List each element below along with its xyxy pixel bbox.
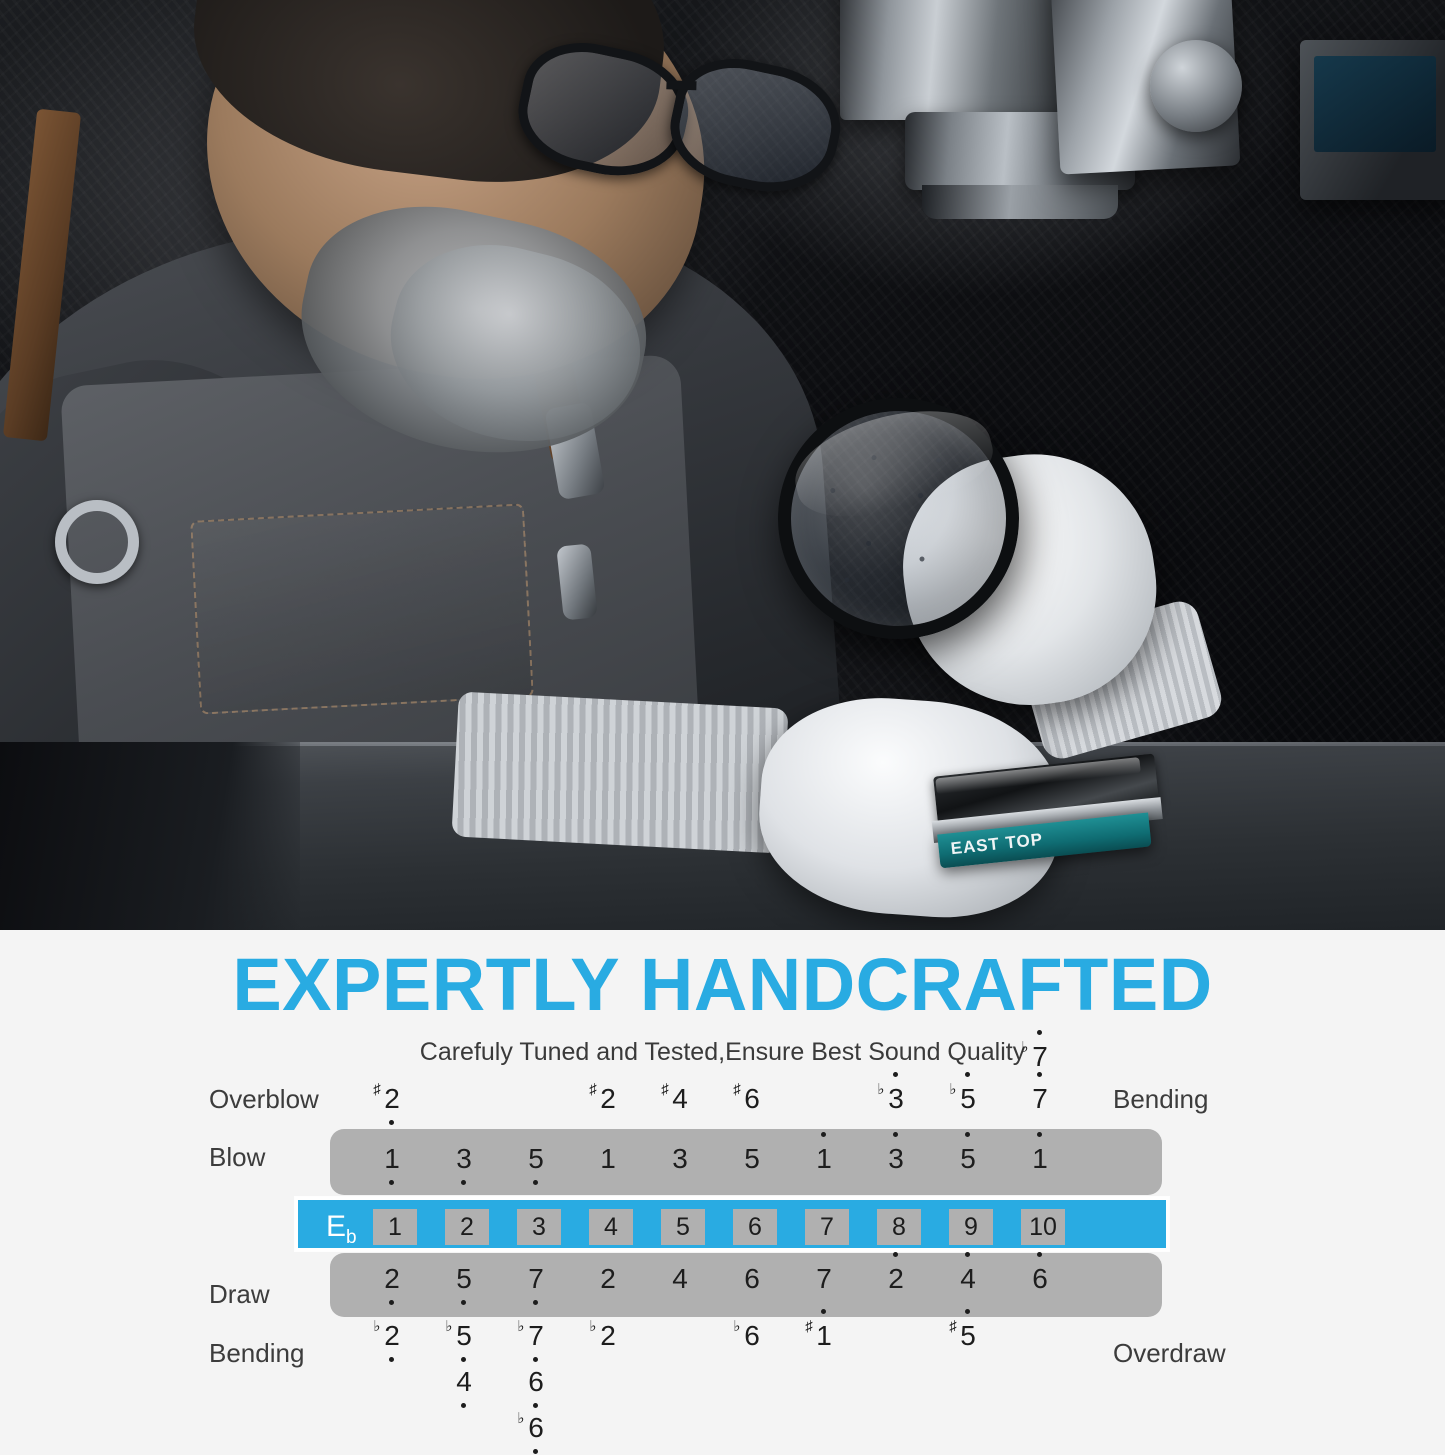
row-label-bending-left: Bending [209,1338,304,1369]
note-glyph: 6♭ [528,1413,544,1443]
hole-box-2[interactable]: 2 [445,1209,489,1245]
key-signature-label: Eb [326,1210,357,1249]
note-glyph: 6 [744,1264,760,1294]
sharp-icon: ♯ [373,1082,381,1097]
hole-number-bar: Eb 12345678910 [295,1197,1169,1251]
blow-hole-8: 3 [865,1144,927,1174]
note-glyph: 7 [816,1264,832,1294]
note-glyph: 4♯ [672,1084,688,1114]
blow-hole-7: 1 [793,1144,855,1174]
note-glyph: 2♯ [384,1084,400,1114]
blow-hole-2: 3 [433,1144,495,1174]
overblow-upper-hole-10: 7♭ [1009,1042,1071,1072]
hero-photo: EAST TOP [0,0,1445,930]
blow-hole-6: 5 [721,1144,783,1174]
note-glyph: 4 [672,1264,688,1294]
page-subtitle: Carefuly Tuned and Tested,Ensure Best So… [0,1038,1445,1067]
octave-dot-down [533,1403,538,1408]
draw-hole-7: 7 [793,1264,855,1294]
desk-shadow [0,742,300,930]
microscope-focus-knob [1150,40,1242,132]
draw-hole-4: 2 [577,1264,639,1294]
hole-box-1[interactable]: 1 [373,1209,417,1245]
blow-hole-9: 5 [937,1144,999,1174]
microscope-column [840,0,1065,120]
sharp-icon: ♯ [949,1319,957,1334]
bending1-hole-7: 1♯ [793,1321,855,1351]
octave-dot-down [461,1357,466,1362]
draw-hole-10: 6 [1009,1264,1071,1294]
note-glyph: 6 [528,1367,544,1397]
draw-hole-1: 2 [361,1264,423,1294]
chart-grid: Eb 12345678910 7♭ 2♯2♯4♯6♯3♭5♭7 13513513… [330,1070,1162,1440]
bending1-hole-9: 5♯ [937,1321,999,1351]
draw-hole-3: 7 [505,1264,567,1294]
note-glyph: 5 [456,1264,472,1294]
flat-icon: ♭ [1021,1040,1028,1055]
info-panel: EXPERTLY HANDCRAFTED Carefuly Tuned and … [0,930,1445,1445]
note-glyph: 5♭ [456,1321,472,1351]
row-label-blow: Blow [209,1142,265,1173]
note-glyph: 1 [384,1144,400,1174]
flat-icon: ♭ [733,1319,740,1334]
octave-dot-down [389,1357,394,1362]
overblow-hole-8: 3♭ [865,1084,927,1114]
bending2-hole-2: 4 [433,1367,495,1397]
blow-hole-5: 3 [649,1144,711,1174]
microscope-display-panel [1300,40,1445,200]
note-glyph: 2♭ [384,1321,400,1351]
octave-dot-down [461,1403,466,1408]
octave-dot-down [533,1357,538,1362]
harmonica-note-chart: Overblow Blow Draw Bending Bending Overd… [0,1070,1445,1440]
overblow-hole-9: 5♭ [937,1084,999,1114]
note-glyph: 5 [744,1144,760,1174]
draw-hole-8: 2 [865,1264,927,1294]
page-title: EXPERTLY HANDCRAFTED [0,948,1445,1022]
hole-box-3[interactable]: 3 [517,1209,561,1245]
overblow-hole-4: 2♯ [577,1084,639,1114]
note-glyph: 1 [1032,1144,1048,1174]
overblow-hole-6: 6♯ [721,1084,783,1114]
blow-hole-10: 1 [1009,1144,1071,1174]
hole-box-4[interactable]: 4 [589,1209,633,1245]
flat-icon: ♭ [373,1319,380,1334]
overblow-hole-1: 2♯ [361,1084,423,1114]
note-glyph: 7♭ [1032,1042,1048,1072]
hole-box-5[interactable]: 5 [661,1209,705,1245]
bending1-hole-4: 2♭ [577,1321,639,1351]
microscope-lens-ring [922,185,1118,219]
note-glyph: 5 [960,1144,976,1174]
note-glyph: 6♭ [744,1321,760,1351]
apron-pocket [190,503,534,714]
flat-icon: ♭ [949,1082,956,1097]
note-glyph: 7 [528,1264,544,1294]
octave-dot-up [893,1072,898,1077]
octave-dot-up [1037,1030,1042,1035]
note-glyph: 7♭ [528,1321,544,1351]
note-glyph: 5♯ [960,1321,976,1351]
bending1-hole-1: 2♭ [361,1321,423,1351]
note-glyph: 4 [960,1264,976,1294]
note-glyph: 3♭ [888,1084,904,1114]
note-glyph: 1 [816,1144,832,1174]
flat-icon: ♭ [589,1319,596,1334]
flat-icon: ♭ [877,1082,884,1097]
note-glyph: 4 [456,1367,472,1397]
bending1-hole-2: 5♭ [433,1321,495,1351]
overblow-hole-10: 7 [1009,1084,1071,1114]
draw-hole-2: 5 [433,1264,495,1294]
octave-dot-up [1037,1072,1042,1077]
note-glyph: 2 [600,1264,616,1294]
note-glyph: 6 [1032,1264,1048,1294]
note-glyph: 3 [888,1144,904,1174]
key-letter: E [326,1210,346,1243]
blow-hole-1: 1 [361,1144,423,1174]
sharp-icon: ♯ [805,1319,813,1334]
note-glyph: 3 [456,1144,472,1174]
octave-dot-up [965,1072,970,1077]
octave-dot-down [389,1120,394,1125]
hole-box-10[interactable]: 10 [1021,1209,1065,1245]
row-label-draw: Draw [209,1279,270,1310]
note-glyph: 2 [384,1264,400,1294]
draw-hole-6: 6 [721,1264,783,1294]
blow-hole-3: 5 [505,1144,567,1174]
note-glyph: 5♭ [960,1084,976,1114]
note-glyph: 7 [1032,1084,1048,1114]
hole-box-7[interactable]: 7 [805,1209,849,1245]
note-glyph: 1♯ [816,1321,832,1351]
blow-hole-4: 1 [577,1144,639,1174]
note-glyph: 2 [888,1264,904,1294]
octave-dot-down [533,1449,538,1454]
flat-icon: ♭ [517,1411,524,1426]
glove-cuff-left [451,691,788,853]
draw-hole-5: 4 [649,1264,711,1294]
eyeglass-bridge [666,80,696,90]
sharp-icon: ♯ [661,1082,669,1097]
flat-icon: ♭ [517,1319,524,1334]
bending3-hole-3: 6♭ [505,1413,567,1443]
note-glyph: 2♯ [600,1084,616,1114]
note-glyph: 3 [672,1144,688,1174]
apron-metal-ring [55,500,139,584]
draw-hole-9: 4 [937,1264,999,1294]
hole-box-6[interactable]: 6 [733,1209,777,1245]
note-glyph: 2♭ [600,1321,616,1351]
product-infographic: EAST TOP EXPERTLY HANDCRAFTED Carefuly T… [0,0,1445,1445]
overblow-hole-5: 4♯ [649,1084,711,1114]
note-glyph: 5 [528,1144,544,1174]
key-accidental: b [346,1227,357,1248]
note-glyph: 6♯ [744,1084,760,1114]
hole-box-9[interactable]: 9 [949,1209,993,1245]
bending1-hole-6: 6♭ [721,1321,783,1351]
hole-box-8[interactable]: 8 [877,1209,921,1245]
sharp-icon: ♯ [589,1082,597,1097]
bending1-hole-3: 7♭ [505,1321,567,1351]
flat-icon: ♭ [445,1319,452,1334]
sharp-icon: ♯ [733,1082,741,1097]
note-glyph: 1 [600,1144,616,1174]
bending2-hole-3: 6 [505,1367,567,1397]
row-label-overblow: Overblow [209,1084,319,1115]
